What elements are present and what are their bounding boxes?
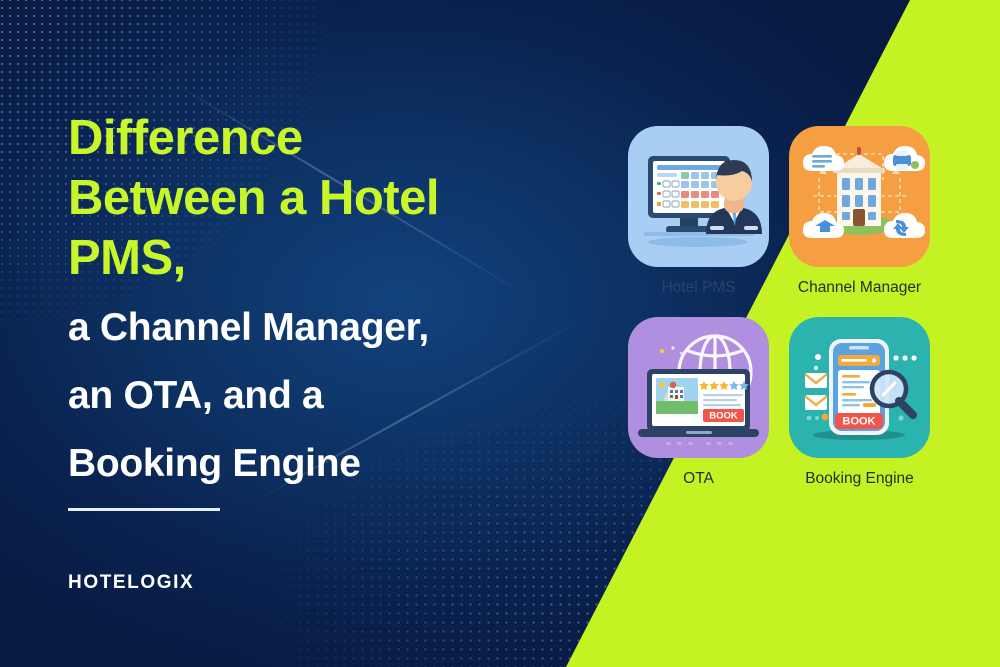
- book-button-label-ota: BOOK: [709, 411, 738, 422]
- monitor-dashboard-receptionist-icon: [628, 126, 769, 267]
- brand-wordmark: HOTELOGIX: [68, 572, 194, 594]
- smartphone-magnifier-mail-icon: BOOK: [789, 317, 930, 458]
- divider-rule: [68, 508, 220, 511]
- hotel-building-clouds-network-icon: [789, 126, 930, 267]
- icon-grid-row-2: BOOK OTA: [628, 317, 930, 488]
- headline-line-1: Difference: [68, 108, 588, 168]
- subheadline-line-1: a Channel Manager,: [68, 299, 588, 356]
- subheadline-line-2: an OTA, and a: [68, 367, 588, 424]
- icon-grid-row-1: Hotel PMS: [628, 126, 930, 297]
- tile-label-booking-engine: Booking Engine: [789, 470, 930, 488]
- laptop-globe-hotel-listing-icon: BOOK: [628, 317, 769, 458]
- headline-line-3: PMS,: [68, 228, 588, 288]
- tile-hotel-pms[interactable]: Hotel PMS: [628, 126, 769, 297]
- tile-label-channel-manager: Channel Manager: [789, 279, 930, 297]
- tile-channel-manager[interactable]: Channel Manager: [789, 126, 930, 297]
- poster-canvas: Difference Between a Hotel PMS, a Channe…: [0, 0, 1000, 667]
- tile-booking-engine[interactable]: BOOK: [789, 317, 930, 488]
- subheadline-line-3: Booking Engine: [68, 435, 588, 492]
- tile-label-hotel-pms: Hotel PMS: [628, 279, 769, 297]
- headline-block: Difference Between a Hotel PMS, a Channe…: [68, 108, 588, 492]
- headline-line-2: Between a Hotel: [68, 168, 588, 228]
- icon-grid: Hotel PMS: [628, 126, 930, 488]
- tile-ota[interactable]: BOOK OTA: [628, 317, 769, 488]
- tile-label-ota: OTA: [628, 470, 769, 488]
- book-button-label-booking-engine: BOOK: [843, 416, 876, 428]
